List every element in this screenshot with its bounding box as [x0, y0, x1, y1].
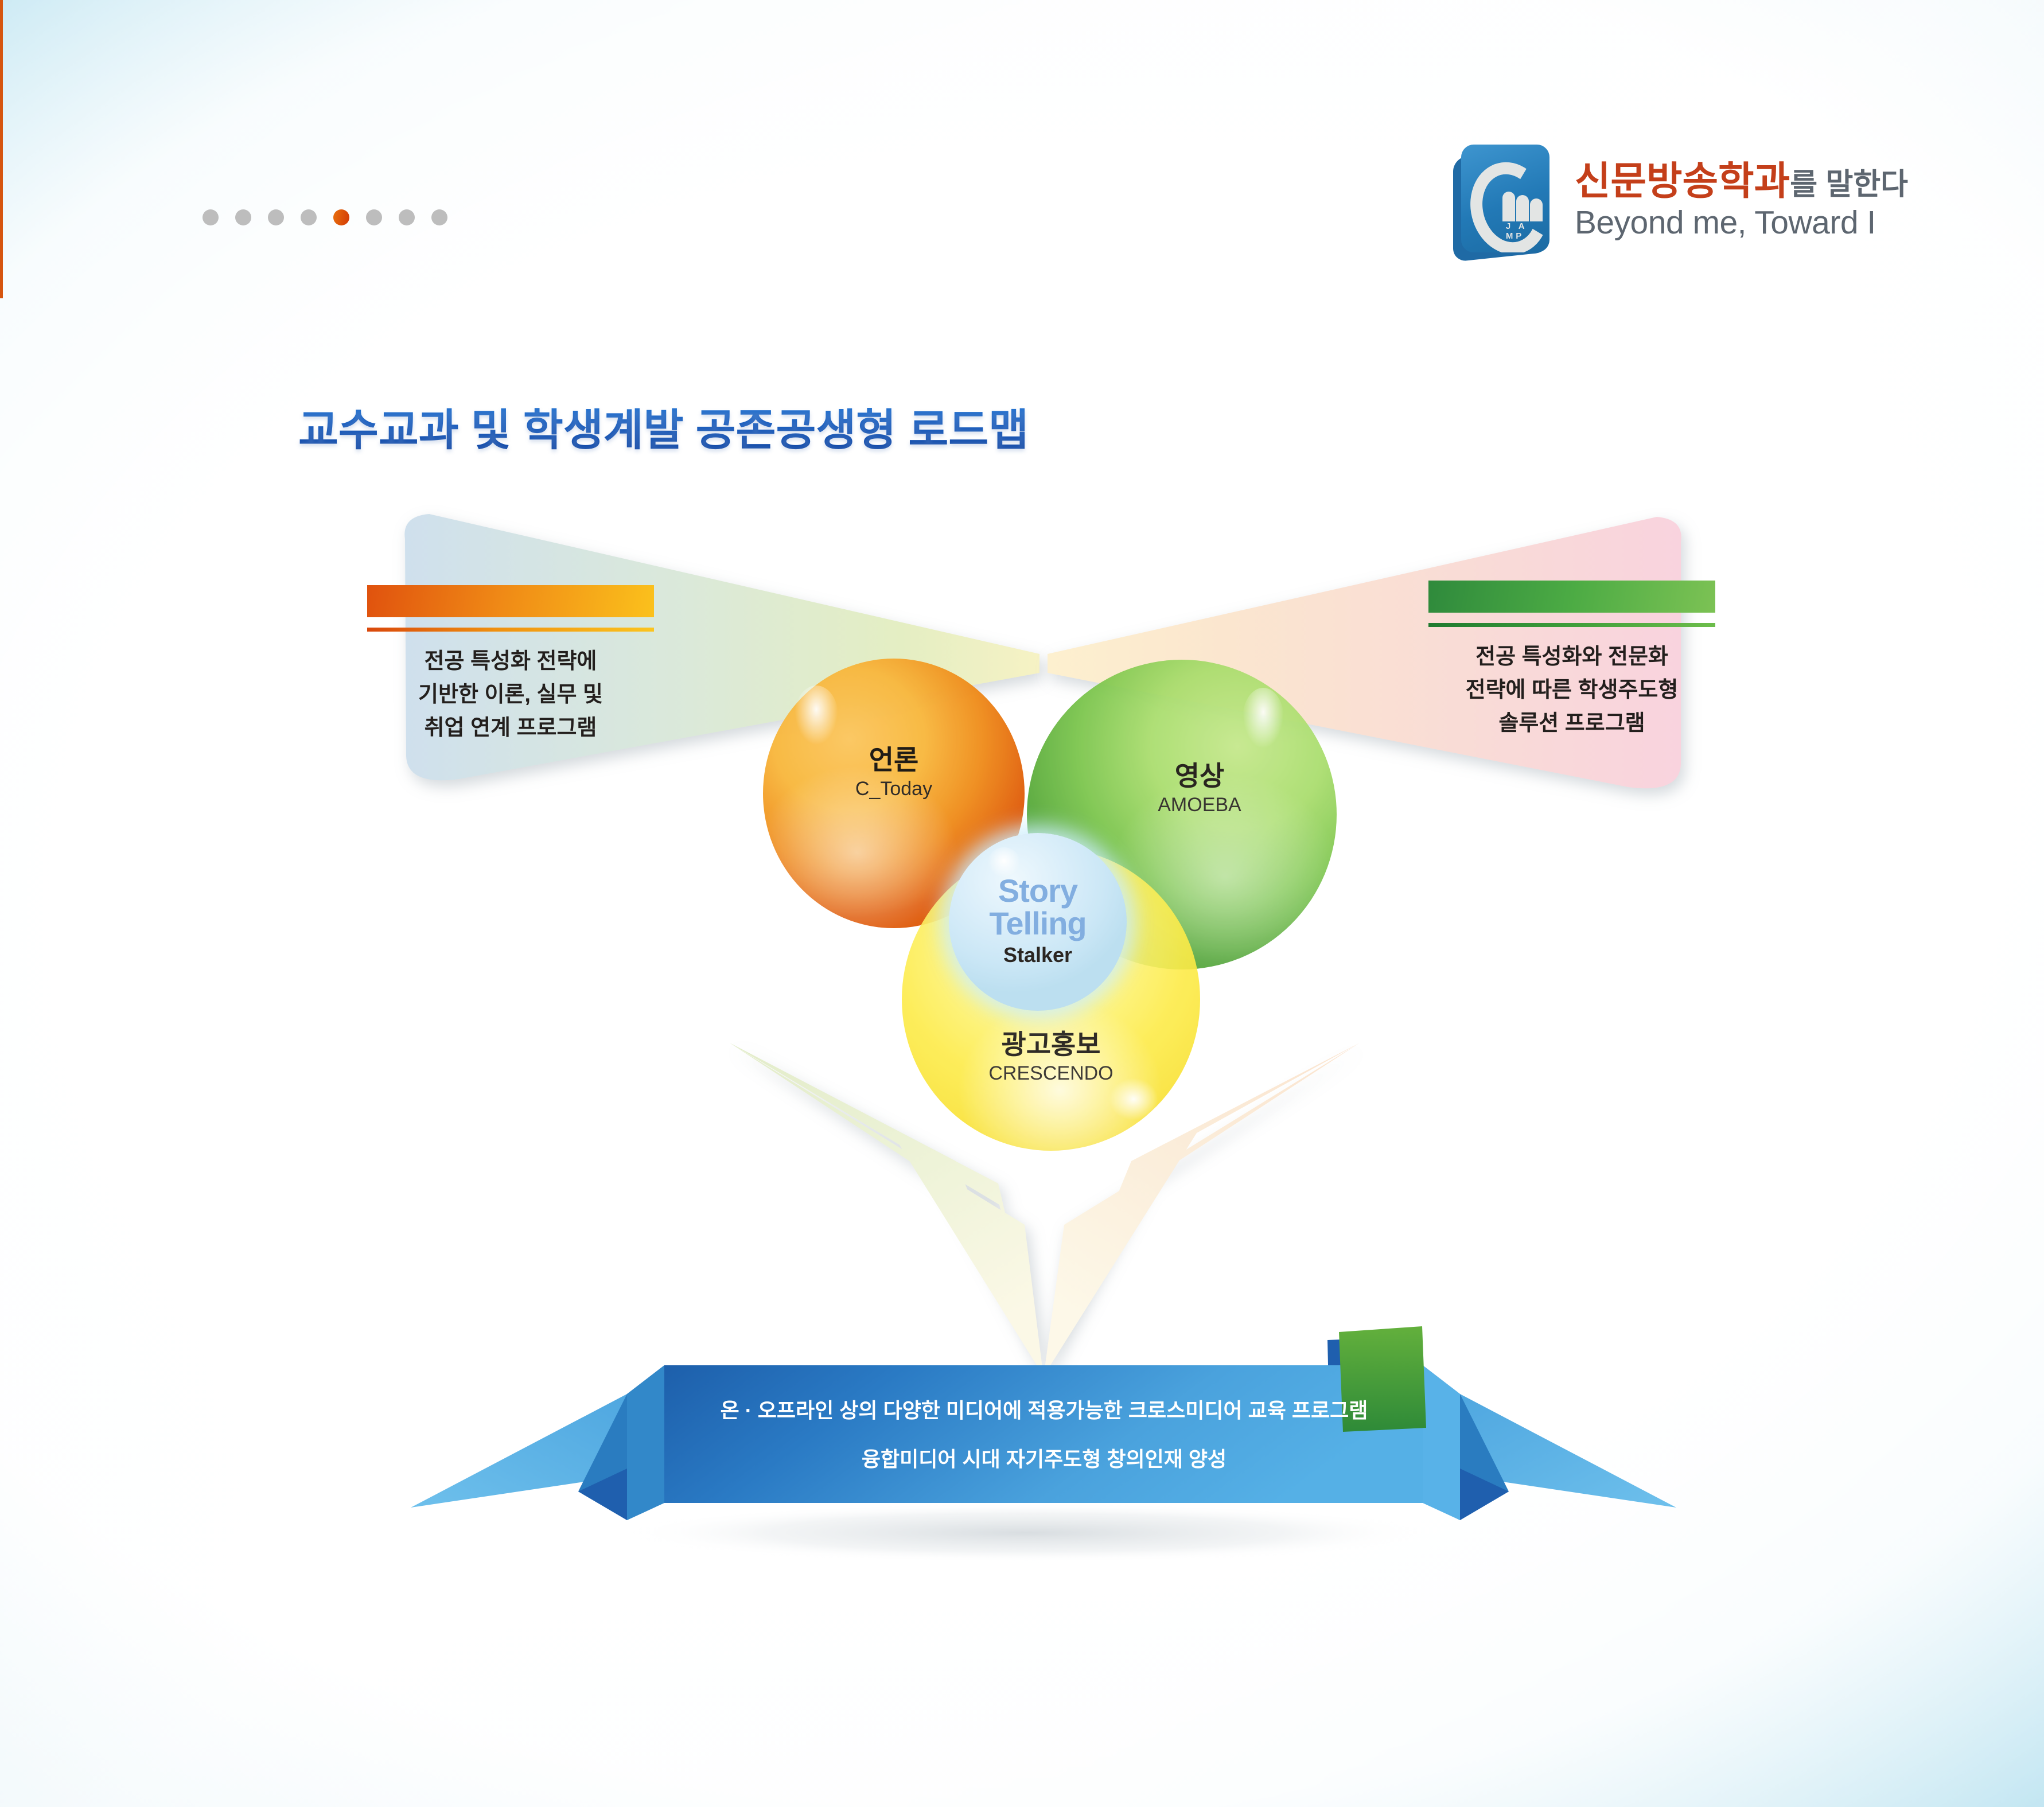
wing-left-body: 전공 특성화 전략에 기반한 이론, 실무 및 취업 연계 프로그램	[367, 645, 654, 745]
wing-left-content: 교수교과 전공 특성화 전략에 기반한 이론, 실무 및 취업 연계 프로그램	[367, 585, 654, 745]
ribbon-message: 온 · 오프라인 상의 다양한 미디어에 적용가능한 크로스미디어 교육 프로그…	[591, 1400, 1497, 1470]
sphere-media-title: 언론	[763, 746, 1025, 774]
sphere-gloss-icon	[795, 686, 838, 745]
sphere-video-subtitle: AMOEBA	[1062, 794, 1337, 816]
sphere-media-subtitle: C_Today	[763, 778, 1025, 800]
wing-right-body-line: 전략에 따른 학생주도형	[1428, 674, 1715, 707]
wing-left-body-line: 취업 연계 프로그램	[367, 712, 654, 745]
wing-right-body-line: 솔루션 프로그램	[1428, 707, 1715, 741]
wing-right-content: 학생계발 전공 특성화와 전문화 전략에 따른 학생주도형 솔루션 프로그램	[1428, 581, 1715, 740]
sphere-ad-title: 광고홍보	[902, 1030, 1200, 1058]
ribbon-line-2: 융합미디어 시대 자기주도형 창의인재 양성	[591, 1448, 1497, 1470]
sphere-video-title: 영상	[1062, 762, 1337, 790]
sphere-gloss-icon	[1243, 688, 1284, 749]
sphere-storytelling[interactable]: StoryTelling Stalker	[949, 833, 1127, 1011]
wing-left-heading: 교수교과	[367, 585, 654, 617]
ribbon-shadow	[625, 1503, 1428, 1563]
wing-left-body-line: 기반한 이론, 실무 및	[367, 679, 654, 712]
wing-left-divider	[367, 628, 654, 632]
wing-right-divider	[1428, 623, 1715, 627]
wing-right-heading: 학생계발	[1428, 581, 1715, 613]
wing-right-body-line: 전공 특성화와 전문화	[1428, 641, 1715, 674]
ribbon-line-1: 온 · 오프라인 상의 다양한 미디어에 적용가능한 크로스미디어 교육 프로그…	[591, 1400, 1497, 1422]
sphere-ad-subtitle: CRESCENDO	[902, 1062, 1200, 1085]
wing-left-body-line: 전공 특성화 전략에	[367, 645, 654, 679]
wing-right-body: 전공 특성화와 전문화 전략에 따른 학생주도형 솔루션 프로그램	[1428, 641, 1715, 740]
sphere-storytelling-subtitle: Stalker	[949, 943, 1127, 967]
sphere-storytelling-title: StoryTelling	[949, 874, 1127, 940]
